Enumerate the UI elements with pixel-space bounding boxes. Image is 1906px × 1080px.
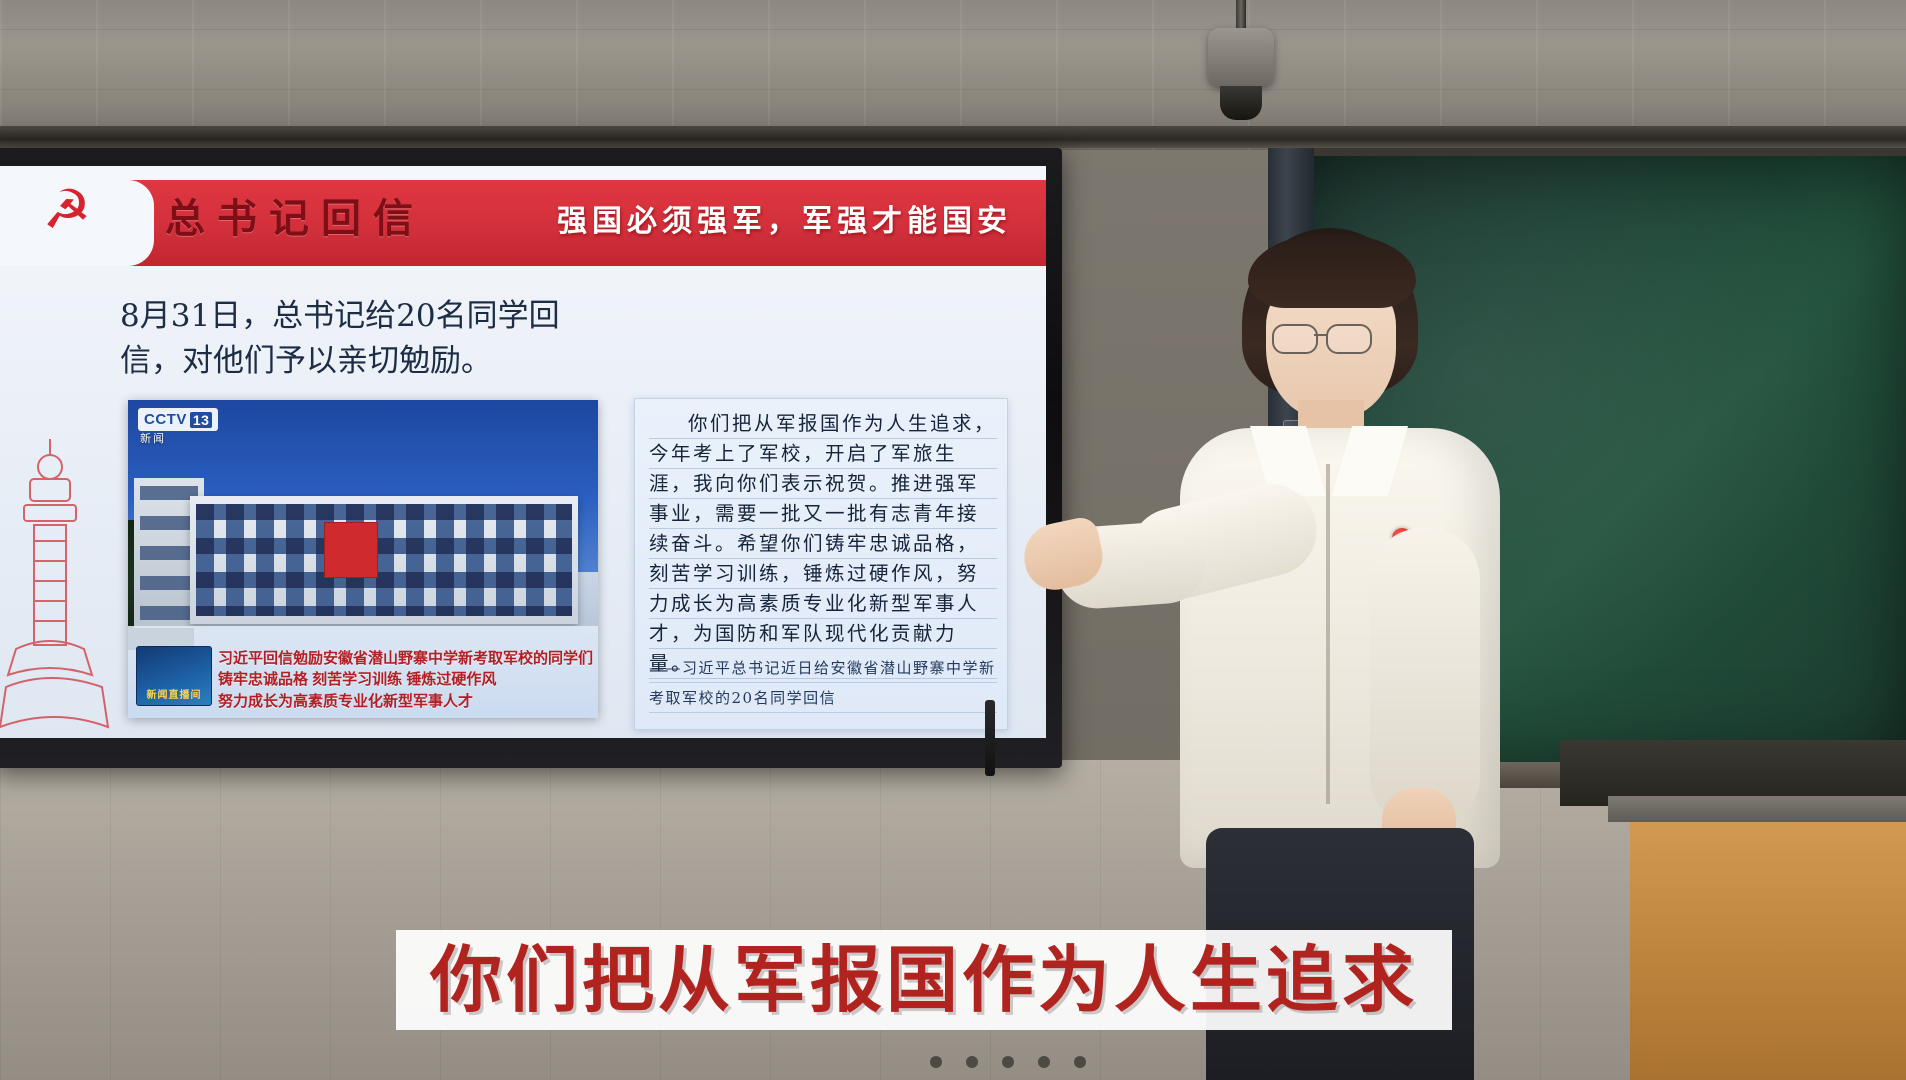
news-program-label: 新闻直播间 [147,686,202,701]
floor-dot [966,1056,978,1068]
teacher-shirt-placket [1326,464,1330,804]
stylus-marker[interactable] [985,700,995,776]
screenshot-root: ⏻ ▭ ▣ ◉ ✎ ✎ ✐ ✕ ▬ ☭ 总书记回信 强国必须强军，军强才能国安 [0,0,1906,1080]
ceiling-camera [1208,28,1274,86]
news-red-banner [324,522,378,578]
cctv-channel-number: 13 [190,412,213,428]
presentation-slide: ☭ 总书记回信 强国必须强军，军强才能国安 [0,166,1046,738]
cctv-channel-sub: 新闻 [140,430,166,446]
cctv-logo: CCTV 13 [138,408,218,431]
teacher-left-arm [1370,528,1480,828]
news-screenshot-image: CCTV 13 新闻 新闻直播间 习近平回信勉励安徽省潜山野寨中学新考取军校的同… [128,400,598,718]
letter-body-text: 你们把从军报国作为人生追求，今年考上了军校，开启了军旅生涯，我向你们表示祝贺。推… [649,409,997,679]
teacher-glasses-right [1326,324,1372,354]
floor-marker-dots [930,1052,1230,1072]
letter-quote-panel: 你们把从军报国作为人生追求，今年考上了军校，开启了军旅生涯，我向你们表示祝贺。推… [634,398,1008,730]
ceiling-trim [0,126,1906,148]
news-caption-line-2: 铸牢忠诚品格 刻苦学习训练 锤炼过硬作风 [218,669,594,690]
news-caption-text: 习近平回信勉励安徽省潜山野寨中学新考取军校的同学们 铸牢忠诚品格 刻苦学习训练 … [218,648,594,712]
letter-attribution-text: ——习近平总书记近日给安徽省潜山野寨中学新考取军校的20名同学回信 [649,653,997,713]
subtitle-overlay: 你们把从军报国作为人生追求 [396,930,1452,1030]
monument-watermark-icon [0,421,116,738]
floor-dot [1038,1056,1050,1068]
teacher-glasses-left [1272,324,1318,354]
news-caption-line-3: 努力成长为高素质专业化新型军事人才 [218,691,594,712]
camera-lens-icon [1220,86,1262,120]
teacher-fringe [1248,234,1416,308]
slide-lead-text: 8月31日，总书记给20名同学回信，对他们予以亲切勉励。 [120,294,610,384]
display-screen[interactable]: ☭ 总书记回信 强国必须强军，军强才能国安 [0,166,1046,738]
teacher-glasses-bridge [1314,334,1328,336]
floor-dot [930,1056,942,1068]
news-caption-bar: 新闻直播间 习近平回信勉励安徽省潜山野寨中学新考取军校的同学们 铸牢忠诚品格 刻… [128,626,598,718]
slide-title: 总书记回信 [165,186,425,244]
floor-dot [1002,1056,1014,1068]
podium-top-surface [1608,796,1906,822]
interactive-display-bezel: ☭ 总书记回信 强国必须强军，军强才能国安 [0,148,1062,768]
news-caption-line-1: 习近平回信勉励安徽省潜山野寨中学新考取军校的同学们 [218,648,594,669]
slide-slogan: 强国必须强军，军强才能国安 [557,196,1012,240]
wooden-podium [1630,808,1906,1080]
cctv-wordmark: CCTV [144,411,187,428]
floor-dot [1074,1056,1086,1068]
news-school-building [190,496,578,624]
news-program-badge: 新闻直播间 [136,646,212,706]
subtitle-text: 你们把从军报国作为人生追求 [430,944,1418,1016]
hammer-and-sickle-icon: ☭ [20,180,114,240]
